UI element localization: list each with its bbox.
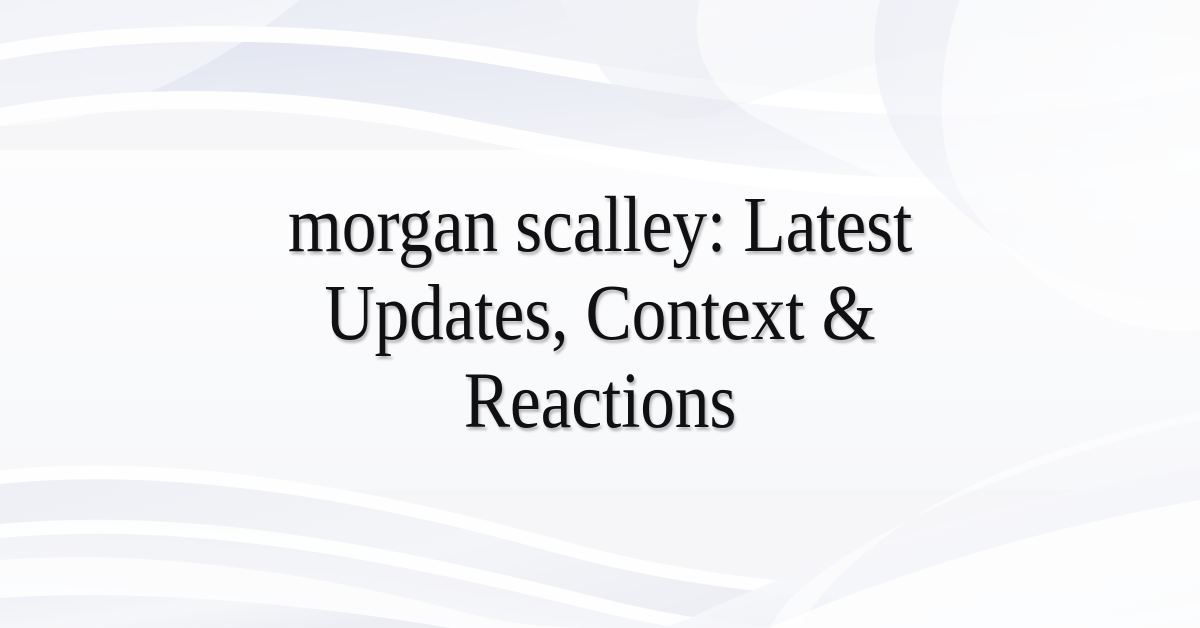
page-title: morgan scalley: Latest Updates, Context … [230, 182, 969, 446]
headline-container: morgan scalley: Latest Updates, Context … [0, 0, 1200, 628]
share-card: morgan scalley: Latest Updates, Context … [0, 0, 1200, 628]
